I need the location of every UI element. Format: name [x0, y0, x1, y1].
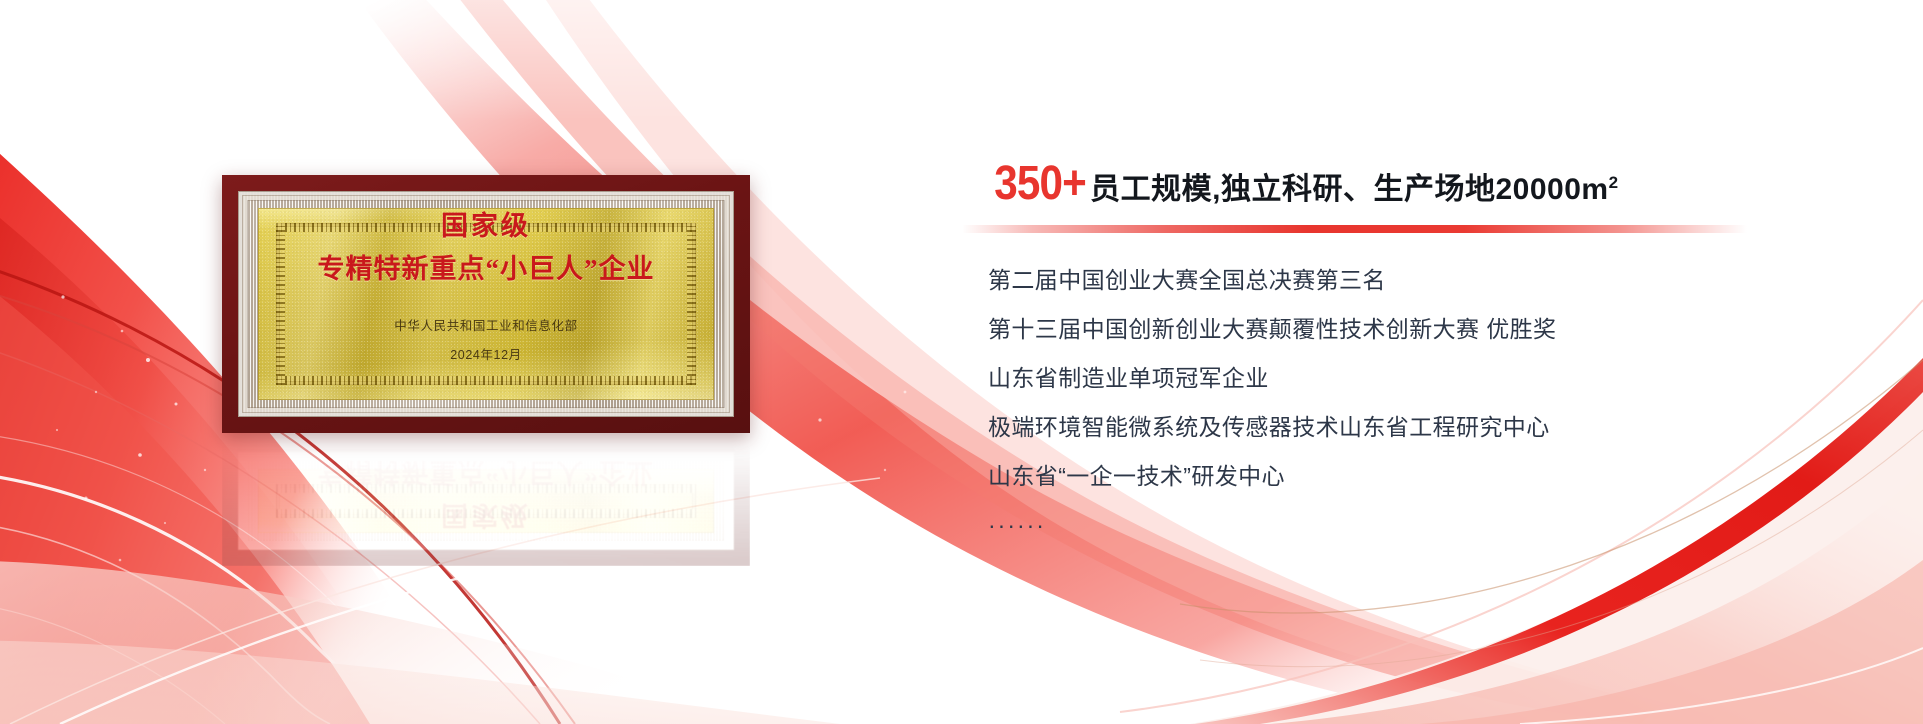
list-item: 山东省制造业单项冠军企业	[988, 367, 1862, 390]
list-item: 极端环境智能微系统及传感器技术山东省工程研究中心	[988, 416, 1862, 439]
headline-number: 350+	[994, 160, 1086, 208]
reflection-gold-plate	[258, 469, 714, 533]
list-item: 第十三届中国创新创业大赛颠覆性技术创新大赛 优胜奖	[988, 318, 1862, 341]
award-list-ellipsis: ······	[988, 514, 1862, 537]
reflection-gold-texture	[258, 469, 714, 533]
reflection-frame	[222, 436, 750, 566]
content-column: 350+ 员工规模,独立科研、生产场地20000m2 第二届中国创业大赛全国总决…	[962, 160, 1862, 537]
plaque-issuer: 中华人民共和国工业和信息化部	[394, 320, 577, 333]
reflection-inscription: 国家级 专精特新重点“小巨人”企业 中华人民共和国工业和信息化部 2024年12…	[222, 436, 750, 566]
list-item: 第二届中国创业大赛全国总决赛第三名	[988, 269, 1862, 292]
banner-root: 国家级 专精特新重点“小巨人”企业 中华人民共和国工业和信息化部 2024年12…	[0, 0, 1923, 724]
headline-underline-bar	[962, 225, 1747, 233]
reflection-plaque-title-line1: 国家级	[441, 501, 531, 528]
headline: 350+ 员工规模,独立科研、生产场地20000m2	[962, 160, 1862, 218]
award-list: 第二届中国创业大赛全国总决赛第三名 第十三届中国创新创业大赛颠覆性技术创新大赛 …	[962, 269, 1862, 537]
headline-text: 员工规模,独立科研、生产场地20000m	[1090, 173, 1608, 206]
headline-superscript: 2	[1609, 173, 1619, 192]
plaque-inscription: 国家级 专精特新重点“小巨人”企业 中华人民共和国工业和信息化部 2024年12…	[222, 175, 750, 433]
plaque-date: 2024年12月	[450, 349, 522, 362]
plaque-title-line2: 专精特新重点“小巨人”企业	[318, 256, 655, 283]
reflection-silver-border	[238, 452, 734, 550]
award-plaque: 国家级 专精特新重点“小巨人”企业 中华人民共和国工业和信息化部 2024年12…	[222, 175, 750, 433]
reflection-fret-border	[276, 484, 696, 518]
pale-pink-bands	[0, 478, 880, 724]
list-item: 山东省“一企一技术”研发中心	[988, 465, 1862, 488]
plaque-reflection: 国家级 专精特新重点“小巨人”企业 中华人民共和国工业和信息化部 2024年12…	[222, 436, 750, 566]
plaque-title-line1: 国家级	[441, 213, 531, 240]
reflection-plaque-title-line2: 专精特新重点“小巨人”企业	[318, 458, 655, 485]
headline-text-wrap: 员工规模,独立科研、生产场地20000m2	[1090, 175, 1618, 205]
